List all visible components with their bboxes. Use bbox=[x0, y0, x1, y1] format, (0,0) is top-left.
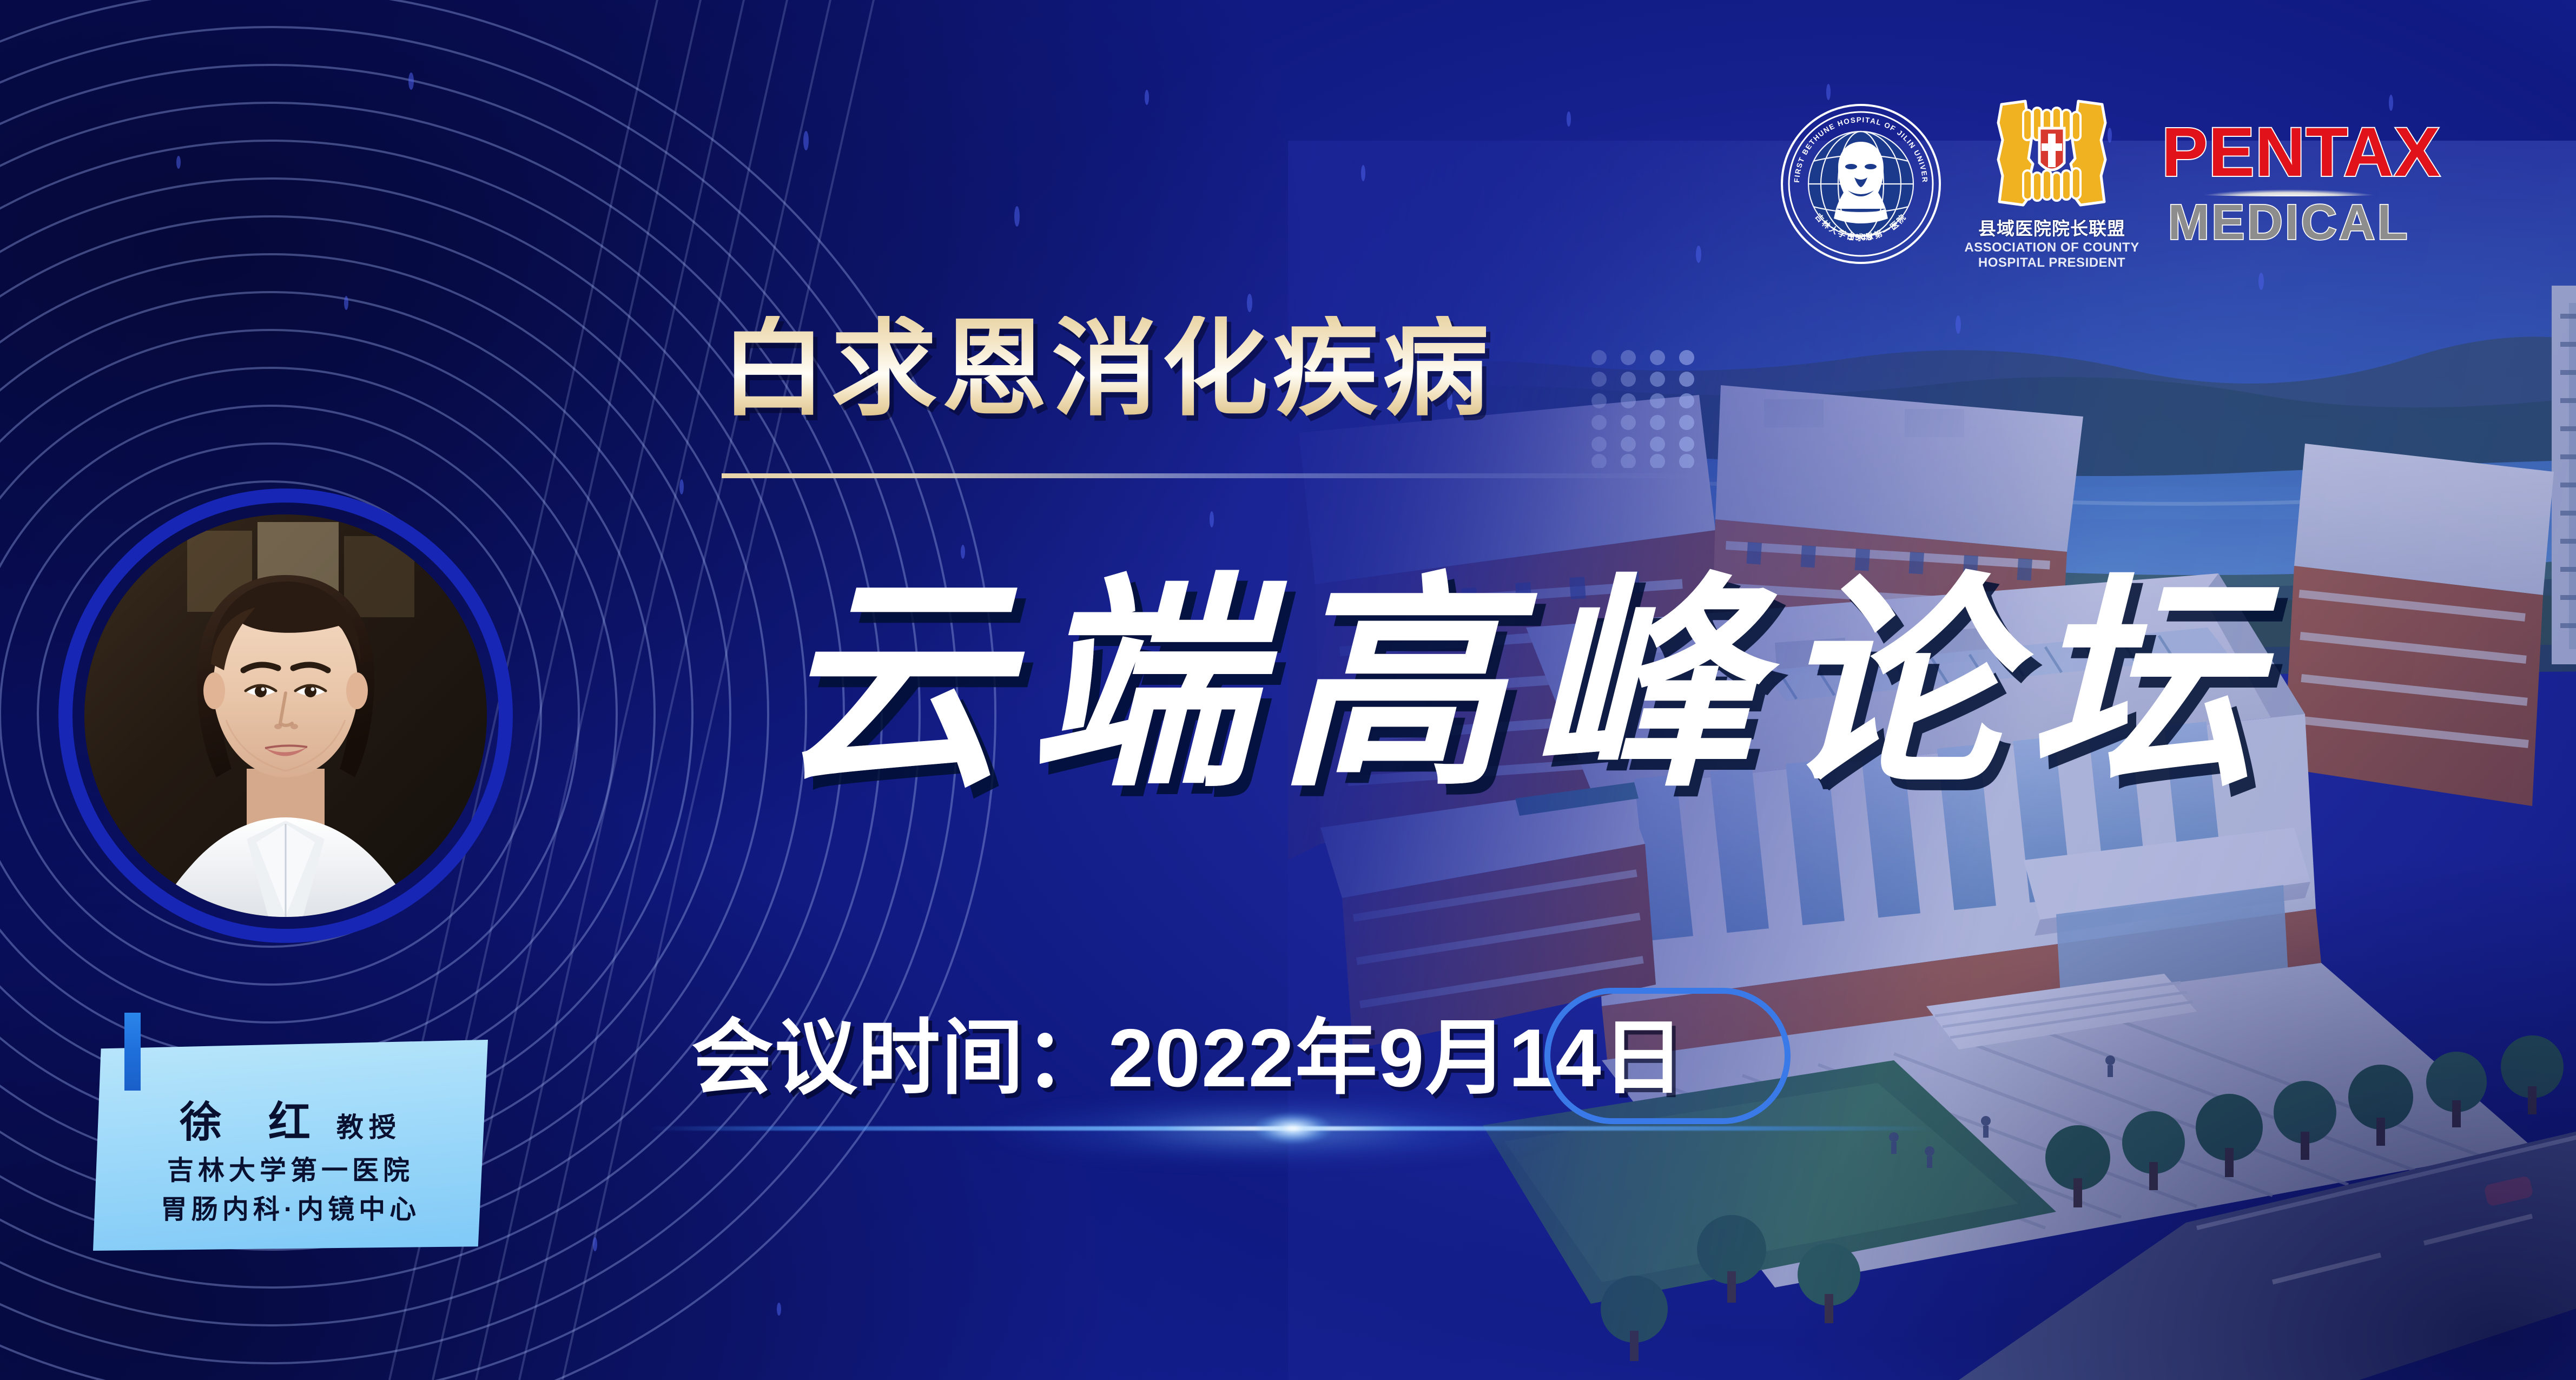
association-county-hospital-president-logo: 县域医院院长联盟 ASSOCIATION OF COUNTY HOSPITAL … bbox=[1984, 95, 2119, 273]
page-title: 白求恩消化疾病 bbox=[721, 316, 1493, 422]
association-logo-en-line1: ASSOCIATION OF COUNTY bbox=[1964, 240, 2139, 255]
pentax-medical-wordmark: MEDICAL bbox=[2162, 196, 2416, 249]
pentax-wordmark: PENTAX bbox=[2162, 120, 2416, 186]
title-divider-rule bbox=[722, 473, 1695, 478]
pentax-medical-logo: PENTAX MEDICAL bbox=[2162, 120, 2416, 248]
hospital-seal-year: 1949 bbox=[1848, 232, 1873, 242]
speaker-name: 徐 红 bbox=[180, 1098, 328, 1146]
portrait-ring-border bbox=[58, 488, 513, 943]
conference-poster: THE FIRST BETHUNE HOSPITAL OF JILIN UNIV… bbox=[0, 0, 2576, 1380]
hospital-seal-logo: THE FIRST BETHUNE HOSPITAL OF JILIN UNIV… bbox=[1780, 103, 1942, 265]
meeting-date: 会议时间：2022年9月14日 bbox=[691, 991, 1686, 1110]
speaker-portrait bbox=[58, 488, 513, 943]
date-pill-outline bbox=[1544, 988, 1791, 1124]
association-logo-en-line2: HOSPITAL PRESIDENT bbox=[1978, 255, 2125, 270]
light-streak-core bbox=[1239, 1107, 1347, 1150]
association-hands-shield-icon bbox=[1990, 95, 2114, 211]
logo-bar: THE FIRST BETHUNE HOSPITAL OF JILIN UNIV… bbox=[1780, 95, 2416, 273]
speaker-organization-line1: 吉林大学第一医院 bbox=[93, 1149, 488, 1187]
speaker-name-row: 徐 红教授 bbox=[93, 1088, 488, 1149]
calligraphy-title: 云端高峰论坛 bbox=[655, 553, 2402, 845]
association-logo-cn: 县域医院院长联盟 bbox=[1978, 214, 2125, 240]
speaker-title: 教授 bbox=[336, 1112, 401, 1143]
speaker-accent-bar bbox=[124, 1013, 141, 1091]
speaker-organization-line2: 胃肠内科·内镜中心 bbox=[93, 1188, 488, 1226]
calligraphy-text: 云端高峰论坛 bbox=[778, 553, 2280, 818]
dot-grid-decoration bbox=[1590, 349, 1704, 471]
